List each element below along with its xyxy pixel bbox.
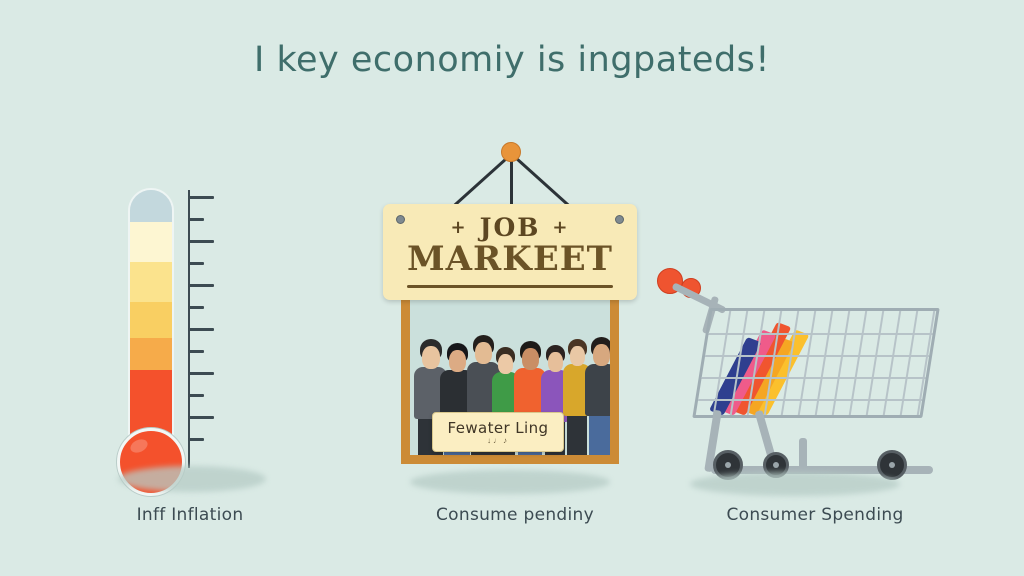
cart-mesh-line (708, 333, 932, 335)
crowd-person-head (449, 350, 466, 372)
thermometer-band-gold (130, 302, 172, 338)
ornament-plus-right: + (552, 217, 569, 238)
thermometer-tick (188, 394, 204, 397)
thermometer-tick (188, 262, 204, 265)
thermometer-icon (90, 180, 290, 490)
sign-word-job: JOB (480, 213, 541, 242)
job-market-sign-icon: +JOB+ MARKEET Fewater Ling ↓♩♪ (370, 142, 660, 472)
shopping-cart-icon (645, 260, 945, 495)
fewater-ling-subtext: ↓♩♪ (433, 436, 563, 445)
thermometer-tube (128, 188, 174, 448)
crowd-person-legs (567, 414, 587, 464)
thermometer-tick (188, 438, 204, 441)
crowd-person (585, 309, 617, 455)
sign-hook-icon (501, 142, 521, 162)
thermometer-band-amber (130, 338, 172, 370)
crowd-person-head (593, 344, 610, 366)
crowd-person-head (548, 352, 563, 372)
thermometer-tick (188, 416, 214, 419)
thermometer-tick (188, 284, 214, 287)
caption-jobs: Consume pendiny (350, 505, 680, 525)
sign-rope-right (510, 153, 571, 209)
thermometer-band-yellow (130, 262, 172, 302)
cart-mesh-line (701, 377, 925, 379)
cart-basket (692, 308, 939, 418)
crowd-person-head (522, 348, 539, 370)
thermometer-tick (188, 306, 204, 309)
ornament-plus-left: + (451, 217, 468, 238)
job-market-board: +JOB+ MARKEET (383, 204, 637, 300)
thermometer-band-empty-top (130, 190, 172, 222)
caption-spending: Consumer Spending (650, 505, 980, 525)
thermometer-tick (188, 240, 214, 243)
sign-underline (407, 285, 613, 288)
illustration-canvas: I key economiy is ingpateds! Inff Inflat… (0, 0, 1024, 576)
cart-mesh-line (705, 355, 929, 357)
thermometer-tick (188, 372, 214, 375)
crowd-person-legs (589, 414, 613, 464)
thermometer-shadow (118, 466, 266, 492)
caption-inflation: Inff Inflation (25, 505, 355, 525)
page-title: I key economiy is ingpateds! (0, 40, 1024, 80)
thermometer-tick (188, 350, 204, 353)
cart-shadow (690, 472, 900, 496)
thermometer-tick (188, 196, 214, 199)
cart-leg-middle (755, 410, 776, 458)
fewater-ling-text: Fewater Ling (433, 419, 563, 437)
thermometer-scale (188, 190, 234, 468)
sign-title-line1: +JOB+ (383, 213, 637, 242)
crowd-person-head (422, 346, 440, 369)
job-sign-shadow (410, 470, 610, 494)
thermometer-tick (188, 218, 204, 221)
sign-rope-left (451, 153, 512, 209)
fewater-ling-sign: Fewater Ling ↓♩♪ (432, 412, 564, 452)
thermometer-tick (188, 328, 214, 331)
thermometer-band-cream (130, 222, 172, 262)
crowd-person-head (570, 346, 585, 366)
cart-wheel (877, 450, 907, 480)
sign-title-line2: MARKEET (383, 240, 637, 278)
cart-mesh-line (698, 399, 922, 401)
crowd-person-torso (585, 364, 617, 416)
crowd-person-head (498, 354, 513, 374)
crowd-person-head (475, 342, 492, 364)
